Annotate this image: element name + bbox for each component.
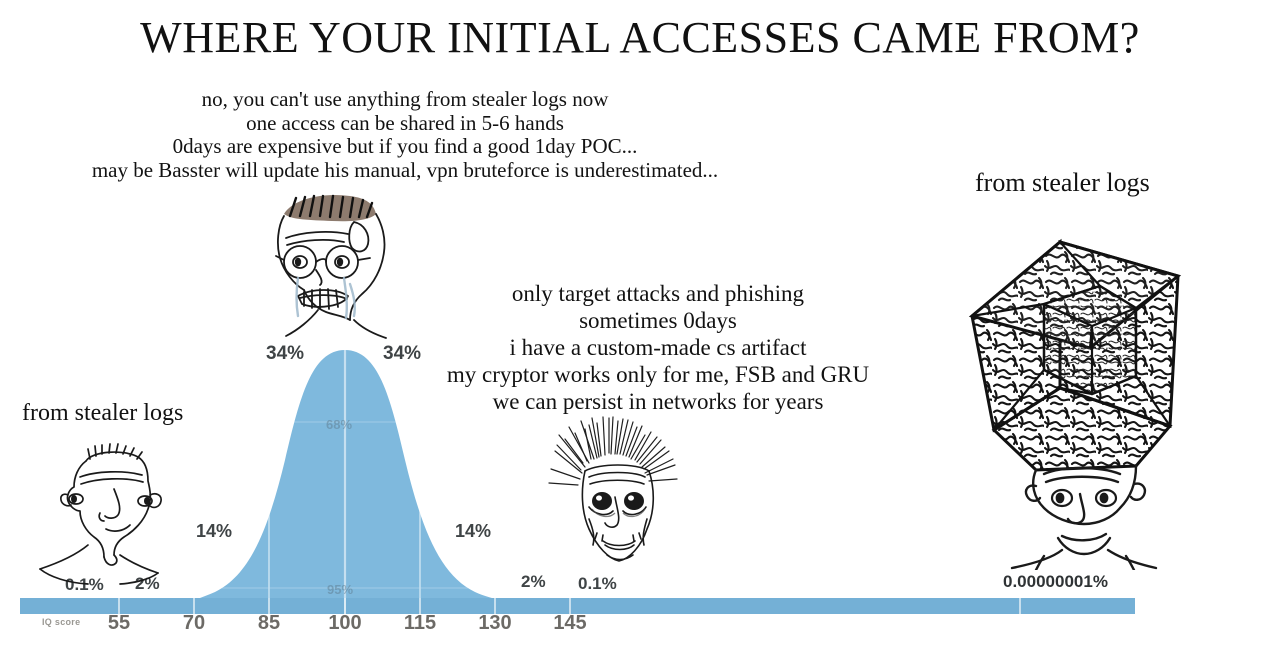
stressed-wojak-figure [545,415,695,580]
axis-tick-145: 145 [553,612,586,635]
top-caption-line-4: may be Basster will update his manual, v… [10,159,800,183]
top-caption-line-1: no, you can't use anything from stealer … [10,88,800,112]
interval-label-68: 68% [326,417,352,432]
axis-tick-115: 115 [404,612,436,635]
top-caption-line-2: one access can be shared in 5-6 hands [10,112,800,136]
band-label-6: 2% [521,572,546,592]
top-caption-block: no, you can't use anything from stealer … [10,88,800,182]
wojak-eyes [1052,490,1116,506]
axis-tick-130: 130 [478,612,511,635]
wojak-head [1012,466,1156,570]
axis-tick-55: 55 [108,612,130,635]
outlier-percent-label: 0.00000001% [1003,572,1108,592]
brainlet-wojak-figure [28,437,208,587]
brain-cube [972,242,1178,470]
axis-tick-100: 100 [328,612,361,635]
brainlet-wojak-icon [28,437,208,587]
crying-glasses-wojak-icon [258,192,426,342]
crying-glasses-wojak-figure [258,192,426,342]
stressed-wojak-icon [545,415,695,580]
axis-name-label: IQ score [42,617,80,627]
galaxy-brain-wojak-figure [940,198,1220,570]
band-label-3: 34% [266,343,304,365]
galaxy-brain-wojak-icon [940,198,1220,570]
page-title: WHERE YOUR INITIAL ACCESSES CAME FROM? [0,12,1280,64]
right-figure-label: from stealer logs [975,168,1150,198]
band-label-5: 14% [455,521,491,542]
band-label-4: 34% [383,343,421,365]
interval-label-95: 95% [327,582,353,597]
meme-canvas: WHERE YOUR INITIAL ACCESSES CAME FROM? n… [0,0,1280,648]
top-caption-line-3: 0days are expensive but if you find a go… [10,135,800,159]
middle-caption-line-1: only target attacks and phishing [398,280,918,307]
axis-tick-70: 70 [183,612,205,635]
axis-tick-85: 85 [258,612,280,635]
